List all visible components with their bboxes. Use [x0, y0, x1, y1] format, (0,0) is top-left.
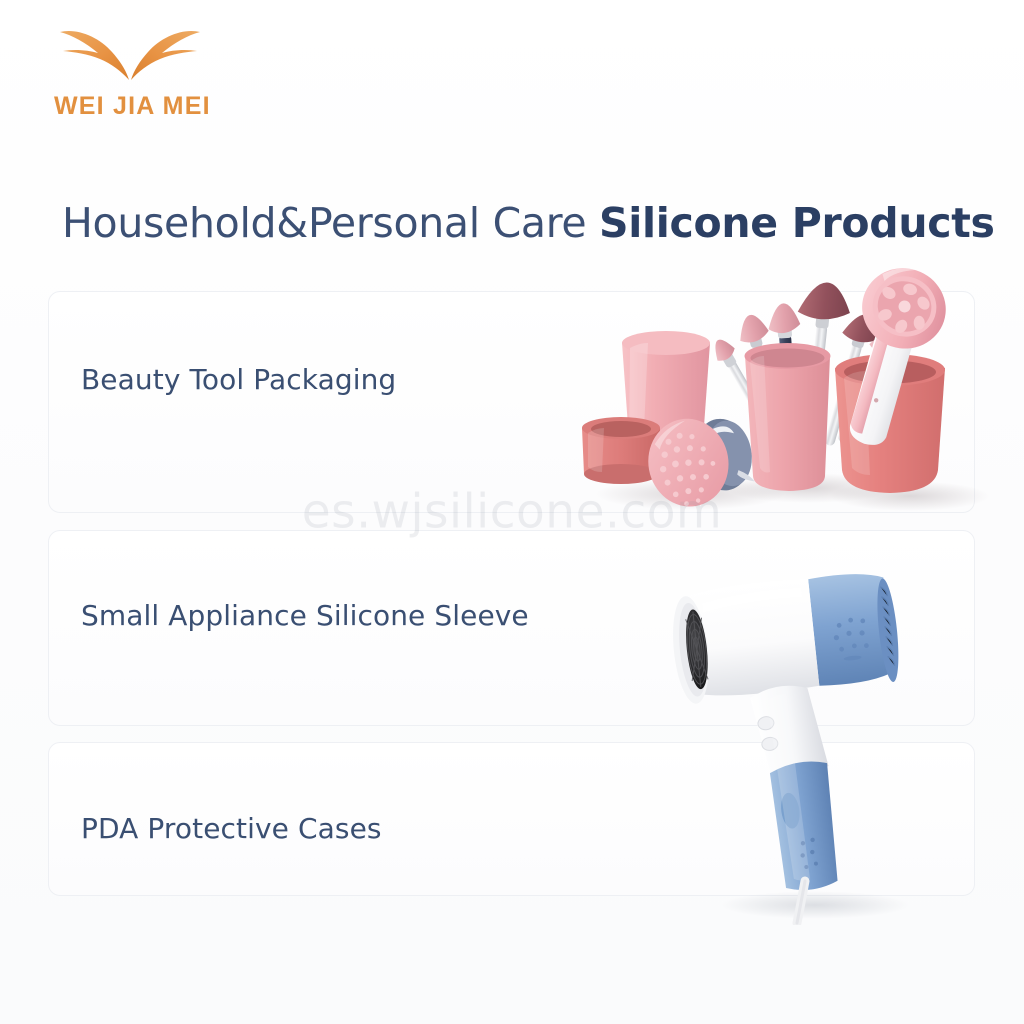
- product-card-beauty-tool-packaging[interactable]: Beauty Tool Packaging: [48, 291, 975, 513]
- card-label: PDA Protective Cases: [81, 812, 382, 845]
- product-card-small-appliance-silicone-sleeve[interactable]: Small Appliance Silicone Sleeve: [48, 530, 975, 726]
- product-card-pda-protective-cases[interactable]: PDA Protective Cases: [48, 742, 975, 896]
- brand-name-text: WEI JIA MEI: [54, 92, 211, 121]
- page-title: Household&Personal Care Silicone Product…: [62, 199, 995, 247]
- page-title-bold: Silicone Products: [599, 199, 995, 247]
- card-label: Beauty Tool Packaging: [81, 363, 396, 396]
- page-title-light: Household&Personal Care: [62, 199, 599, 247]
- brand-logo: WEI JIA MEI: [48, 22, 248, 132]
- wings-logo-icon: [50, 22, 210, 84]
- card-label: Small Appliance Silicone Sleeve: [81, 599, 529, 632]
